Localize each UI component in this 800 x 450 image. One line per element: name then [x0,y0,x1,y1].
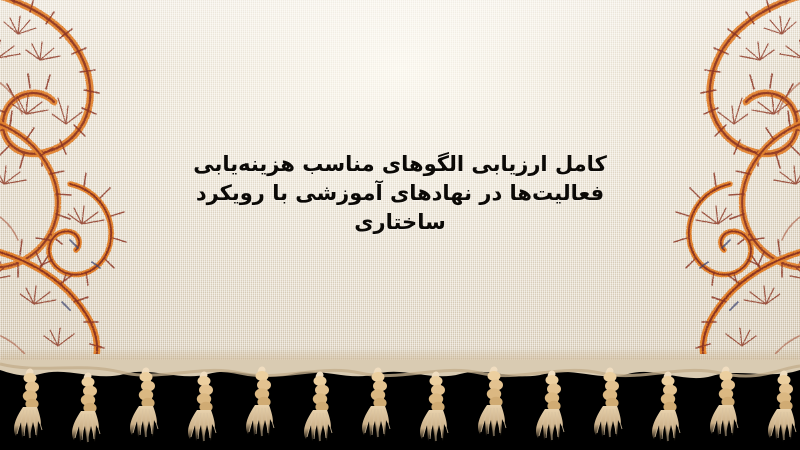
title-line-2: فعالیت‌ها در نهادهای آموزشی با رویکرد [0,179,800,208]
title-line-3: ساختاری [0,208,800,237]
slide-title: کامل ارزیابی الگوهای مناسب هزینه‌یابی فع… [0,150,800,237]
tassel-fringe [0,360,800,450]
fabric-top-sheen [0,0,800,70]
slide-canvas: کامل ارزیابی الگوهای مناسب هزینه‌یابی فع… [0,0,800,450]
title-line-1: کامل ارزیابی الگوهای مناسب هزینه‌یابی [0,150,800,179]
